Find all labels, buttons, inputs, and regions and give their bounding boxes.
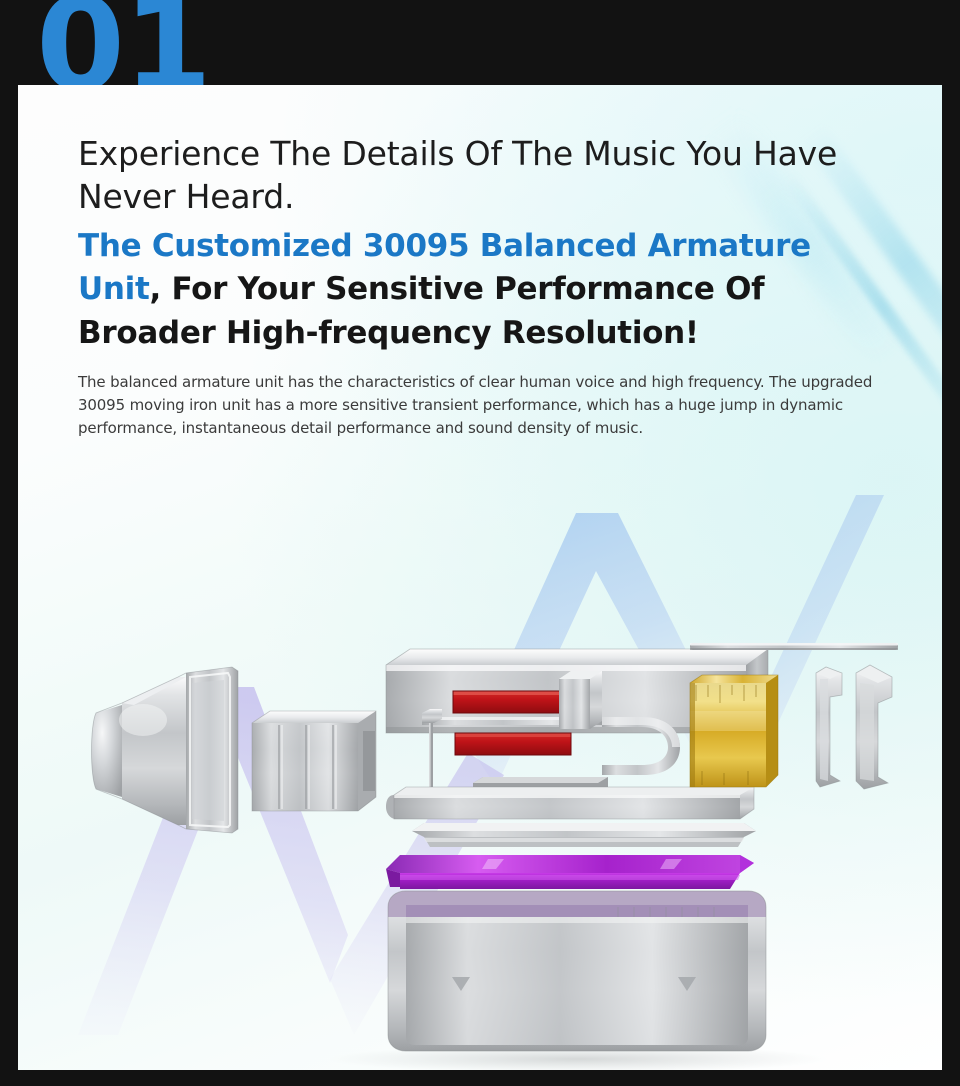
part-contact-rod (690, 643, 898, 650)
headline-rest-2: Broader High-frequency Resolution! (78, 315, 699, 351)
part-lower-magnet (455, 733, 571, 755)
part-sound-nozzle (92, 667, 239, 833)
part-nozzle-sleeve (252, 711, 376, 811)
part-upper-magnet (453, 691, 569, 713)
part-base-plate (386, 787, 754, 819)
headline-primary: Experience The Details Of The Music You … (78, 133, 888, 219)
headline-rest-1: , For Your Sensitive Performance Of (150, 271, 765, 307)
part-shim-plate (412, 823, 756, 847)
headline-line-1: Experience The Details Of The Music You … (78, 134, 837, 173)
headline-line-2: Never Heard. (78, 177, 294, 216)
body-paragraph: The balanced armature unit has the chara… (78, 371, 878, 439)
part-diaphragm (386, 855, 754, 889)
content-card: Experience The Details Of The Music You … (18, 85, 942, 1070)
part-contact-pin-left (816, 667, 842, 787)
text-block: Experience The Details Of The Music You … (78, 133, 888, 439)
product-detail-page: 01 (0, 0, 960, 1086)
part-bottom-housing (388, 891, 766, 1051)
headline-secondary: The Customized 30095 Balanced Armature U… (78, 225, 888, 355)
part-voice-coil (690, 675, 778, 787)
exploded-driver-diagram (18, 525, 942, 1070)
part-contact-pin-right (856, 665, 892, 789)
